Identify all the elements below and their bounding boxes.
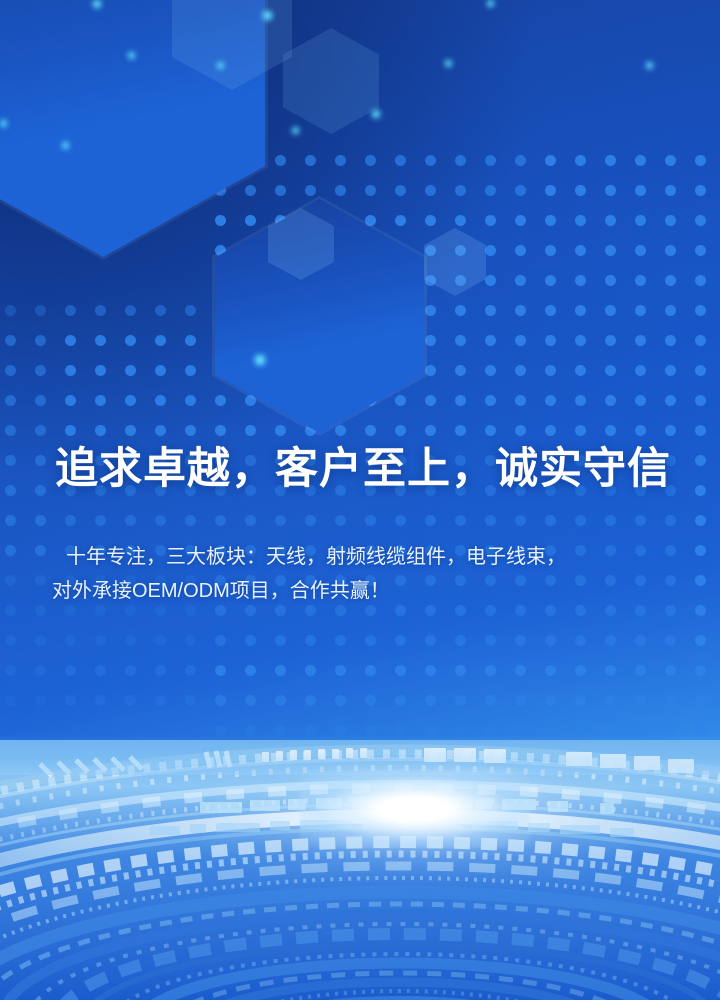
dot [605, 635, 616, 646]
dot [605, 275, 616, 286]
dot [125, 635, 136, 646]
dot [185, 665, 196, 676]
dot [335, 635, 346, 646]
dot [305, 635, 316, 646]
dot [695, 275, 706, 286]
dot [515, 365, 526, 376]
dot [335, 695, 346, 706]
dot [545, 425, 556, 436]
dot [305, 725, 316, 736]
dot [155, 695, 166, 706]
dot [275, 185, 286, 196]
spark-dot-2 [128, 52, 135, 59]
dot [635, 215, 646, 226]
dot [665, 695, 676, 706]
dot [515, 635, 526, 646]
dot [305, 665, 316, 676]
subtitle-line-1: 十年专注，三大板块：天线，射频线缆组件，电子线束， [52, 540, 682, 574]
dot [485, 725, 496, 736]
dot [425, 635, 436, 646]
dot [365, 635, 376, 646]
dot [365, 365, 376, 376]
dot [485, 395, 496, 406]
dot [275, 635, 286, 646]
dot [335, 305, 346, 316]
spark-dot-12 [487, 0, 494, 7]
dot [545, 305, 556, 316]
dot [455, 215, 466, 226]
dot [425, 335, 436, 346]
dot [125, 395, 136, 406]
dot [425, 395, 436, 406]
dot [5, 335, 16, 346]
dot [155, 365, 166, 376]
dot [215, 695, 226, 706]
dot [455, 635, 466, 646]
dot [485, 635, 496, 646]
dot [635, 305, 646, 316]
dot [395, 725, 406, 736]
dot [695, 575, 706, 586]
dot [425, 305, 436, 316]
dot [215, 155, 226, 166]
dot [665, 515, 676, 526]
dot [365, 155, 376, 166]
dot [305, 425, 316, 436]
hexagon-filled-right [424, 228, 486, 296]
dot [665, 185, 676, 196]
dot [215, 275, 226, 286]
dot [65, 635, 76, 646]
dot [695, 635, 706, 646]
dot [125, 425, 136, 436]
dot [215, 335, 226, 346]
dot [395, 395, 406, 406]
dot [155, 305, 166, 316]
dot [305, 395, 316, 406]
dot [665, 365, 676, 376]
dot [545, 335, 556, 346]
dot [35, 545, 46, 556]
dot [125, 305, 136, 316]
dot [575, 335, 586, 346]
dot [95, 395, 106, 406]
dot [695, 365, 706, 376]
dot [515, 155, 526, 166]
dot [485, 245, 496, 256]
dot [695, 455, 706, 466]
dot [305, 695, 316, 706]
spark-dot-11 [255, 355, 265, 365]
dot [695, 665, 706, 676]
dot [5, 665, 16, 676]
dot [245, 365, 256, 376]
dot [155, 635, 166, 646]
dot [635, 245, 646, 256]
dot [605, 305, 616, 316]
dot [5, 395, 16, 406]
dot [605, 335, 616, 346]
page-title: 追求卓越，客户至上，诚实守信 [55, 443, 675, 497]
dot [35, 635, 46, 646]
dot [695, 215, 706, 226]
hud-radar-graphic [0, 740, 720, 1000]
dot [215, 725, 226, 736]
dot [5, 635, 16, 646]
dot [545, 275, 556, 286]
dot [365, 335, 376, 346]
subtitle-line-2: 对外承接OEM/ODM项目，合作共赢！ [52, 574, 682, 608]
dot [125, 665, 136, 676]
dot [605, 725, 616, 736]
dot [575, 695, 586, 706]
dot [365, 245, 376, 256]
dot [605, 185, 616, 196]
dot [395, 695, 406, 706]
dot [455, 155, 466, 166]
dot [305, 215, 316, 226]
dot [35, 365, 46, 376]
dot [335, 245, 346, 256]
dot [425, 245, 436, 256]
dot [95, 665, 106, 676]
dot [665, 335, 676, 346]
dot [245, 305, 256, 316]
dot [455, 335, 466, 346]
dot [695, 515, 706, 526]
dot [605, 425, 616, 436]
dot [215, 245, 226, 256]
dot [425, 725, 436, 736]
dot [695, 485, 706, 496]
dot [545, 515, 556, 526]
dot [545, 635, 556, 646]
dot [605, 695, 616, 706]
dot [275, 245, 286, 256]
dot [275, 335, 286, 346]
dot [35, 665, 46, 676]
dot [515, 695, 526, 706]
dot [635, 365, 646, 376]
dot [395, 215, 406, 226]
dot [485, 185, 496, 196]
dot [245, 425, 256, 436]
dot [35, 575, 46, 586]
dot [155, 395, 166, 406]
dot [395, 245, 406, 256]
dot [455, 305, 466, 316]
dot [515, 665, 526, 676]
dot [245, 155, 256, 166]
dot [425, 515, 436, 526]
dot [695, 725, 706, 736]
dot [5, 485, 16, 496]
dot [125, 515, 136, 526]
dot [515, 305, 526, 316]
dot [5, 425, 16, 436]
dot [515, 215, 526, 226]
page-subtitle: 十年专注，三大板块：天线，射频线缆组件，电子线束， 对外承接OEM/ODM项目，… [52, 540, 682, 609]
dot [635, 725, 646, 736]
dot [215, 515, 226, 526]
dot [455, 185, 466, 196]
dot [515, 275, 526, 286]
dot [155, 665, 166, 676]
dot [65, 335, 76, 346]
dot [305, 275, 316, 286]
dot [5, 605, 16, 616]
dot [575, 635, 586, 646]
dot [335, 515, 346, 526]
dot [275, 515, 286, 526]
dot [185, 695, 196, 706]
dot [575, 155, 586, 166]
dot [155, 425, 166, 436]
dot [365, 665, 376, 676]
dot [95, 335, 106, 346]
dot [485, 215, 496, 226]
dot [215, 215, 226, 226]
dot [245, 695, 256, 706]
dot [695, 425, 706, 436]
dot [125, 335, 136, 346]
dot [605, 365, 616, 376]
dot [425, 365, 436, 376]
dot [605, 395, 616, 406]
dot [575, 365, 586, 376]
dot [695, 395, 706, 406]
dot [35, 515, 46, 526]
dot [695, 605, 706, 616]
dot [635, 155, 646, 166]
dot [395, 335, 406, 346]
dot [635, 395, 646, 406]
dot [365, 305, 376, 316]
dot [635, 275, 646, 286]
dot [65, 395, 76, 406]
dot [245, 725, 256, 736]
dot [515, 425, 526, 436]
dot [35, 455, 46, 466]
dot [35, 335, 46, 346]
dot [245, 215, 256, 226]
dot [5, 305, 16, 316]
dot [125, 365, 136, 376]
dot [635, 335, 646, 346]
dot [575, 395, 586, 406]
dot [575, 515, 586, 526]
dot [245, 665, 256, 676]
dot [545, 665, 556, 676]
dot [515, 395, 526, 406]
dot [5, 365, 16, 376]
dot [695, 305, 706, 316]
dot [695, 245, 706, 256]
hexagon-outline-mid [212, 196, 427, 436]
dot [95, 305, 106, 316]
dot [605, 215, 616, 226]
dot [545, 395, 556, 406]
dot [455, 515, 466, 526]
dot [365, 275, 376, 286]
dot [455, 725, 466, 736]
dot [635, 425, 646, 436]
dot [215, 365, 226, 376]
dot [305, 515, 316, 526]
dot [395, 515, 406, 526]
dot [95, 635, 106, 646]
dot [305, 185, 316, 196]
dot [605, 515, 616, 526]
dot [635, 185, 646, 196]
dot [455, 365, 466, 376]
spark-dot-9 [445, 60, 452, 67]
dot [575, 305, 586, 316]
dot [35, 395, 46, 406]
dot [185, 395, 196, 406]
dot [395, 185, 406, 196]
dot [275, 725, 286, 736]
dot [485, 365, 496, 376]
dot [125, 695, 136, 706]
dot [95, 425, 106, 436]
dot [95, 695, 106, 706]
dot [695, 545, 706, 556]
dot [365, 395, 376, 406]
dot [575, 275, 586, 286]
dot [335, 725, 346, 736]
dot [485, 275, 496, 286]
dot [275, 155, 286, 166]
dot [95, 515, 106, 526]
hexagon-filled-top [172, 0, 292, 90]
dot [65, 515, 76, 526]
dot [425, 425, 436, 436]
dot [455, 395, 466, 406]
dot [575, 215, 586, 226]
dot [665, 395, 676, 406]
dot [515, 185, 526, 196]
dot [635, 695, 646, 706]
dot [365, 215, 376, 226]
spark-dot-8 [292, 127, 299, 134]
dot [425, 695, 436, 706]
dot [185, 515, 196, 526]
dot [335, 275, 346, 286]
dot [665, 275, 676, 286]
spark-dot-5 [263, 11, 272, 20]
dot [65, 305, 76, 316]
dot [275, 395, 286, 406]
dot [605, 155, 616, 166]
dot [395, 275, 406, 286]
dot [65, 425, 76, 436]
dot [485, 515, 496, 526]
dot [545, 155, 556, 166]
dot [95, 365, 106, 376]
dot [395, 665, 406, 676]
dot [5, 695, 16, 706]
dot [665, 665, 676, 676]
dot [545, 245, 556, 256]
spark-dot-1 [93, 0, 101, 8]
dot [575, 185, 586, 196]
dot [305, 245, 316, 256]
dot [365, 185, 376, 196]
dot [335, 395, 346, 406]
promo-banner: 追求卓越，客户至上，诚实守信 十年专注，三大板块：天线，射频线缆组件，电子线束，… [0, 0, 720, 1000]
dot [335, 215, 346, 226]
dot [545, 365, 556, 376]
dot [485, 155, 496, 166]
dot [245, 185, 256, 196]
hexagon-outline-large [0, 0, 268, 260]
dot [575, 245, 586, 256]
dot [245, 395, 256, 406]
dot [245, 245, 256, 256]
spark-dot-7 [372, 110, 380, 118]
dot [425, 155, 436, 166]
dot [485, 335, 496, 346]
dot [455, 665, 466, 676]
dot [425, 275, 436, 286]
dot [275, 215, 286, 226]
dot [185, 365, 196, 376]
spark-dot-4 [0, 120, 7, 127]
dot [185, 305, 196, 316]
dot [365, 725, 376, 736]
dot [305, 335, 316, 346]
dot [5, 575, 16, 586]
dot [65, 695, 76, 706]
dot [245, 335, 256, 346]
dot [635, 665, 646, 676]
dot [665, 305, 676, 316]
dot [635, 635, 646, 646]
dot [335, 155, 346, 166]
dot [245, 635, 256, 646]
dot [335, 185, 346, 196]
dot [695, 155, 706, 166]
dot [425, 185, 436, 196]
dot [695, 185, 706, 196]
dot [365, 425, 376, 436]
dot [185, 425, 196, 436]
dot [455, 695, 466, 706]
dot [395, 635, 406, 646]
dot [605, 665, 616, 676]
dot [545, 215, 556, 226]
dot [275, 365, 286, 376]
dot [335, 425, 346, 436]
dot [395, 425, 406, 436]
dot [305, 305, 316, 316]
dot [485, 305, 496, 316]
dot [455, 275, 466, 286]
dot [605, 245, 616, 256]
dot [575, 725, 586, 736]
hud-radar-svg [0, 740, 720, 1000]
dot [35, 485, 46, 496]
dot [395, 365, 406, 376]
dot [185, 635, 196, 646]
dot [335, 365, 346, 376]
dot [395, 155, 406, 166]
dot [665, 245, 676, 256]
dot [695, 695, 706, 706]
spark-dot-6 [217, 62, 224, 69]
dot [155, 335, 166, 346]
